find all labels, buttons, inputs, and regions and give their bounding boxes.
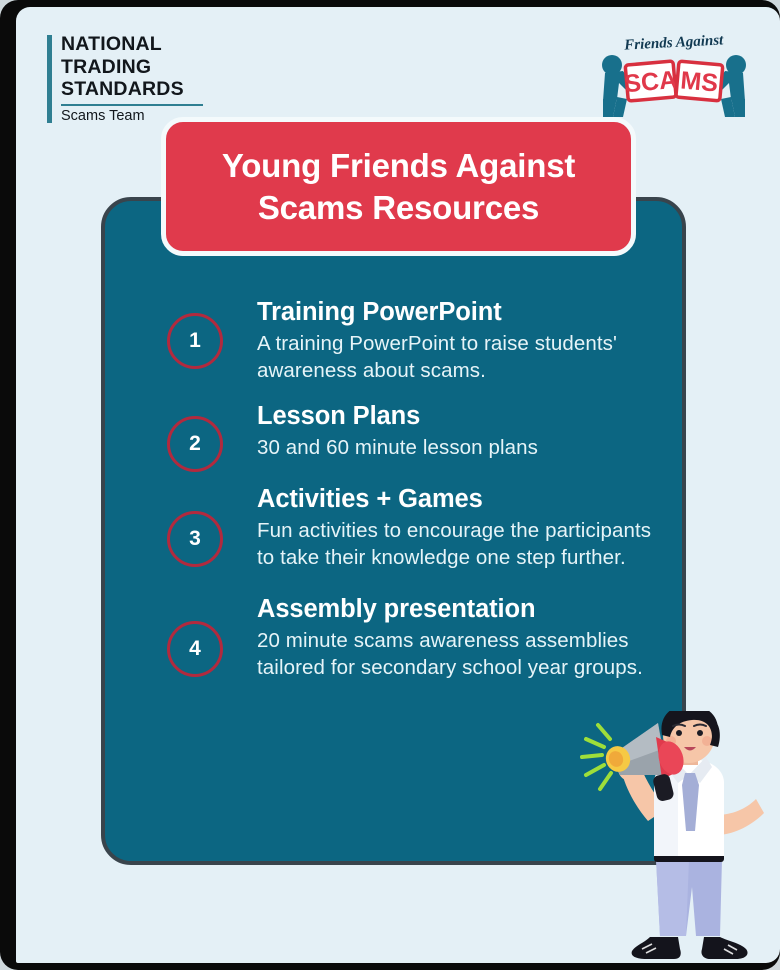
resources-list: 1 Training PowerPoint A training PowerPo… xyxy=(105,296,682,687)
poster-frame: NATIONAL TRADING STANDARDS Scams Team Fr… xyxy=(0,0,780,970)
page-title: Young Friends Against Scams Resources xyxy=(166,145,631,229)
item-content: Assembly presentation 20 minute scams aw… xyxy=(257,593,664,681)
item-description: 20 minute scams awareness assemblies tai… xyxy=(257,627,664,681)
national-trading-standards-logo: NATIONAL TRADING STANDARDS Scams Team xyxy=(47,33,227,125)
logo-line-standards: STANDARDS xyxy=(61,78,221,101)
item-title: Training PowerPoint xyxy=(257,296,664,328)
list-item[interactable]: 3 Activities + Games Fun activities to e… xyxy=(167,483,664,571)
item-number-badge: 2 xyxy=(167,416,223,472)
svg-text:Friends Against: Friends Against xyxy=(623,32,725,53)
logo-line-national: NATIONAL xyxy=(61,33,221,56)
friends-against-scams-logo: Friends Against xyxy=(593,27,755,119)
logo-vertical-bar xyxy=(47,35,52,123)
item-number-badge: 4 xyxy=(167,621,223,677)
item-description: 30 and 60 minute lesson plans xyxy=(257,434,664,461)
svg-text:MS: MS xyxy=(679,66,719,97)
logo-divider-rule xyxy=(61,104,203,106)
item-title: Lesson Plans xyxy=(257,400,664,432)
svg-text:SCA: SCA xyxy=(623,66,678,98)
logo-line-trading: TRADING xyxy=(61,56,221,79)
list-item[interactable]: 1 Training PowerPoint A training PowerPo… xyxy=(167,296,664,384)
item-content: Training PowerPoint A training PowerPoin… xyxy=(257,296,664,384)
logo-subtitle-scams-team: Scams Team xyxy=(61,107,145,126)
item-description: A training PowerPoint to raise students'… xyxy=(257,330,664,384)
item-number-badge: 3 xyxy=(167,511,223,567)
item-description: Fun activities to encourage the particip… xyxy=(257,517,664,571)
poster-page: NATIONAL TRADING STANDARDS Scams Team Fr… xyxy=(16,7,780,963)
list-item[interactable]: 4 Assembly presentation 20 minute scams … xyxy=(167,593,664,681)
item-title: Assembly presentation xyxy=(257,593,664,625)
item-content: Activities + Games Fun activities to enc… xyxy=(257,483,664,571)
megaphone-icon xyxy=(576,709,694,813)
title-banner: Young Friends Against Scams Resources xyxy=(161,117,636,256)
item-title: Activities + Games xyxy=(257,483,664,515)
item-number-badge: 1 xyxy=(167,313,223,369)
logo-wordmark: NATIONAL TRADING STANDARDS xyxy=(61,33,221,101)
list-item[interactable]: 2 Lesson Plans 30 and 60 minute lesson p… xyxy=(167,400,664,461)
item-content: Lesson Plans 30 and 60 minute lesson pla… xyxy=(257,400,664,461)
